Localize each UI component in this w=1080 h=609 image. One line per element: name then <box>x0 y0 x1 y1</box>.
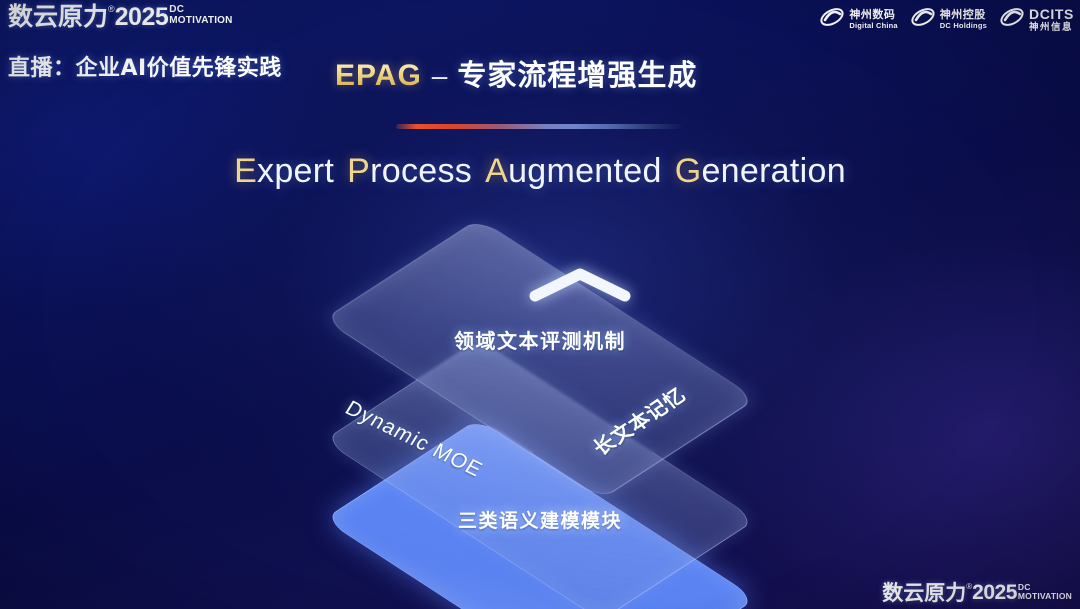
subtitle-rest-3: ugmented <box>508 152 662 190</box>
swirl-icon <box>999 5 1025 34</box>
brand-year: 2025 <box>115 3 169 31</box>
slide-canvas: 数云原力 ® 2025 DC MOTIVATION 直播：企业AI价值先锋实践 … <box>0 0 1080 609</box>
swirl-icon <box>819 5 845 34</box>
subtitle-cap-g: G <box>675 152 702 190</box>
chevron-up-icon <box>528 268 632 302</box>
live-stream-label: 直播：企业AI价值先锋实践 <box>8 50 282 82</box>
logo-digital-china: 神州数码 Digital China <box>819 5 897 34</box>
subtitle-word-1: Expert <box>234 152 334 190</box>
logo-label-en: DC Holdings <box>940 22 987 30</box>
layer-bottom-label: 三类语义建模模块 <box>240 506 840 533</box>
brand-subtitle: DC MOTIVATION <box>169 5 232 26</box>
title-acronym: EPAG <box>335 59 422 93</box>
logo-dcits: DCITS 神州信息 <box>999 5 1074 34</box>
subtitle-rest-1: xpert <box>257 152 334 190</box>
corporate-logo-group: 神州数码 Digital China 神州控股 DC Holdings <box>819 5 1074 34</box>
subtitle-word-2: Process <box>347 152 472 190</box>
title-chinese: 专家流程增强生成 <box>457 52 697 94</box>
subtitle-word-4: Generation <box>675 152 846 190</box>
brand-name-cn: 数云原力 <box>8 3 108 31</box>
logo-label-cn: 神州信息 <box>1029 23 1074 33</box>
watermark-sub-line2: MOTIVATION <box>1018 592 1072 601</box>
layer-top-label: 领域文本评测机制 <box>240 325 840 354</box>
subtitle-word-3: Augmented <box>485 152 662 190</box>
brand-logo: 数云原力 ® 2025 DC MOTIVATION <box>8 3 233 31</box>
title-dash: – <box>432 60 448 92</box>
subtitle-rest-4: eneration <box>701 152 845 190</box>
title-divider <box>396 124 684 129</box>
watermark-year: 2025 <box>972 581 1017 605</box>
logo-label-en: Digital China <box>849 22 897 30</box>
layer-stack-diagram: 领域文本评测机制 Dynamic MOE 长文本记忆 三类语义建模模块 <box>240 215 840 575</box>
page-title: EPAG – 专家流程增强生成 <box>335 52 697 94</box>
logo-dc-holdings: 神州控股 DC Holdings <box>910 5 987 34</box>
subtitle-cap-e: E <box>234 152 257 190</box>
watermark-name-cn: 数云原力 <box>882 581 966 605</box>
subtitle-cap-p: P <box>347 152 370 190</box>
logo-label-en: DCITS <box>1029 7 1074 21</box>
footer-watermark: 数云原力 ® 2025 DC MOTIVATION <box>882 581 1072 605</box>
subtitle-expansion: ExpertProcessAugmentedGeneration <box>0 152 1080 191</box>
registered-mark: ® <box>108 3 115 15</box>
logo-label-cn: 神州数码 <box>849 9 897 20</box>
brand-sub-line1: DC <box>169 5 232 15</box>
logo-label-cn: 神州控股 <box>940 9 987 20</box>
watermark-subtitle: DC MOTIVATION <box>1018 583 1072 601</box>
brand-sub-line2: MOTIVATION <box>169 15 232 26</box>
subtitle-rest-2: rocess <box>370 152 472 190</box>
swirl-icon <box>910 5 936 34</box>
subtitle-cap-a: A <box>485 152 508 190</box>
